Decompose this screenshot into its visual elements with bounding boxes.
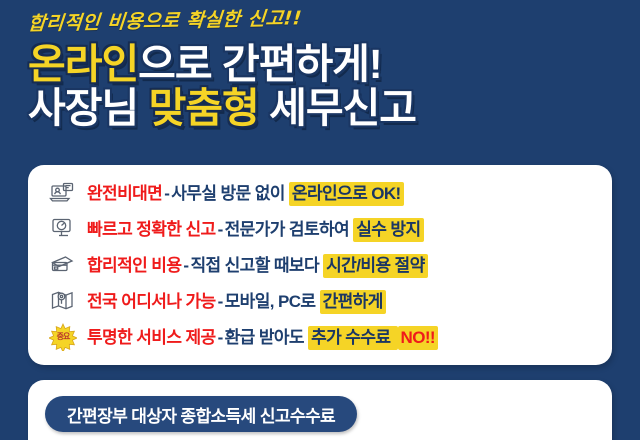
feature-dash: - <box>216 220 225 239</box>
feature-text: 빠르고 정확한 신고-전문가가 검토하여 실수 방지 <box>87 221 424 238</box>
feature-title: 합리적인 비용 <box>87 256 181 275</box>
promo-banner: 합리적인 비용으로 확실한 신고!! 온라인으로 간편하게! 사장님 맞춤형 세… <box>0 0 640 440</box>
headline-line-1-rest: 으로 간편하게! <box>138 41 381 87</box>
hero-section: 합리적인 비용으로 확실한 신고!! 온라인으로 간편하게! 사장님 맞춤형 세… <box>28 14 618 131</box>
feature-body: 모바일, PC로 <box>225 292 316 311</box>
feature-title: 빠르고 정확한 신고 <box>87 220 216 239</box>
feature-text: 투명한 서비스 제공-환급 받아도 추가 수수료 NO!! <box>87 329 438 346</box>
headline-line-2-b: 세무신고 <box>259 85 416 131</box>
fast-review-icon <box>48 214 78 244</box>
feature-highlight: 온라인으로 OK! <box>289 182 404 206</box>
headline-line-2-emphasis: 맞춤형 <box>149 85 259 131</box>
feature-text: 합리적인 비용-직접 신고할 때보다 시간/비용 절약 <box>87 257 428 274</box>
burst-label: 중요 <box>57 333 70 341</box>
important-burst-icon: 중요 <box>48 322 78 352</box>
feature-highlight: 추가 수수료 <box>308 326 397 350</box>
feature-row: 빠르고 정확한 신고-전문가가 검토하여 실수 방지 <box>48 211 612 247</box>
feature-body: 전문가가 검토하여 <box>225 220 349 239</box>
feature-text: 전국 어디서나 가능-모바일, PC로 간편하게 <box>87 293 386 310</box>
feature-body: 환급 받아도 <box>225 328 304 347</box>
fee-section-label: 간편장부 대상자 종합소득세 신고수수료 <box>67 402 335 427</box>
feature-dash: - <box>216 328 225 347</box>
feature-row: 중요 투명한 서비스 제공-환급 받아도 추가 수수료 NO!! <box>48 319 612 355</box>
headline-line-1: 온라인으로 간편하게! <box>28 43 618 87</box>
headline-line-2: 사장님 맞춤형 세무신고 <box>28 87 618 131</box>
fee-section-pill[interactable]: 간편장부 대상자 종합소득세 신고수수료 <box>45 396 357 432</box>
feature-title: 전국 어디서나 가능 <box>87 292 216 311</box>
feature-dash: - <box>216 292 225 311</box>
feature-list: 완전비대면-사무실 방문 없이 온라인으로 OK! 빠르고 정확한 신고-전문가… <box>28 175 612 355</box>
feature-row: 완전비대면-사무실 방문 없이 온라인으로 OK! <box>48 175 612 211</box>
hero-tagline: 합리적인 비용으로 확실한 신고!! <box>27 2 620 35</box>
feature-dash: - <box>162 184 171 203</box>
feature-title: 완전비대면 <box>87 184 162 203</box>
feature-body: 사무실 방문 없이 <box>171 184 285 203</box>
footer-card: 간편장부 대상자 종합소득세 신고수수료 <box>28 380 612 440</box>
feature-card: 완전비대면-사무실 방문 없이 온라인으로 OK! 빠르고 정확한 신고-전문가… <box>28 165 612 365</box>
video-consult-icon <box>48 178 78 208</box>
feature-text: 완전비대면-사무실 방문 없이 온라인으로 OK! <box>87 185 404 202</box>
feature-highlight: 간편하게 <box>320 290 386 314</box>
headline-line-1-emphasis: 온라인 <box>28 41 138 87</box>
card-payment-icon <box>48 250 78 280</box>
hero-headline: 온라인으로 간편하게! 사장님 맞춤형 세무신고 <box>28 43 618 131</box>
burst-shape: 중요 <box>49 323 77 351</box>
feature-body: 직접 신고할 때보다 <box>190 256 319 275</box>
headline-line-2-a: 사장님 <box>28 85 149 131</box>
feature-highlight: 실수 방지 <box>353 218 423 242</box>
map-pin-icon <box>48 286 78 316</box>
feature-row: 합리적인 비용-직접 신고할 때보다 시간/비용 절약 <box>48 247 612 283</box>
feature-highlight-trailing: NO!! <box>398 326 438 350</box>
feature-highlight: 시간/비용 절약 <box>323 254 428 278</box>
feature-title: 투명한 서비스 제공 <box>87 328 216 347</box>
feature-row: 전국 어디서나 가능-모바일, PC로 간편하게 <box>48 283 612 319</box>
